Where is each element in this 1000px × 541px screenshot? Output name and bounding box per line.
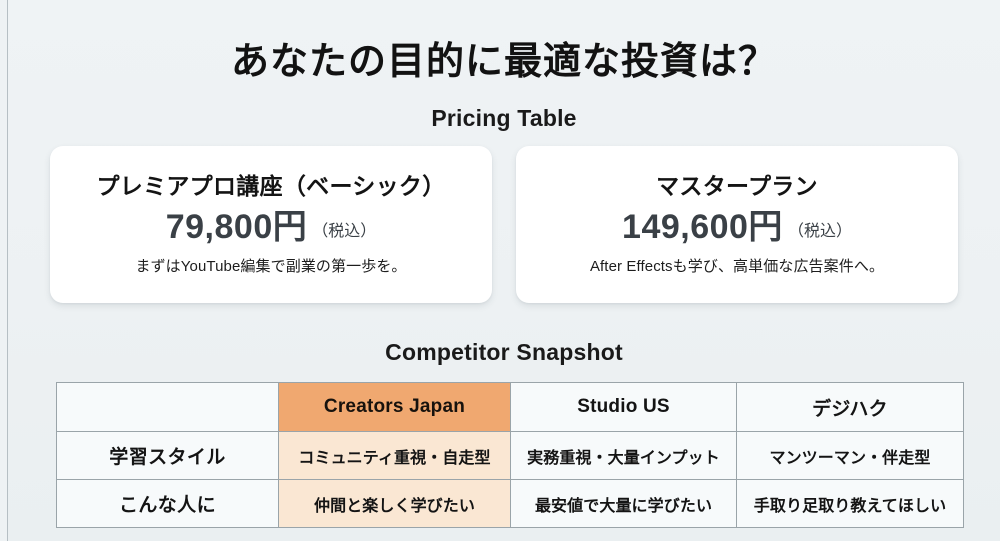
table-header-corner [57,383,279,432]
pricing-card-tax-note: （税込） [788,217,852,244]
table-header-row: Creators Japan Studio US デジハク [57,383,964,432]
table-row-label: 学習スタイル [57,432,279,480]
table-cell-dejihaku: マンツーマン・伴走型 [737,432,964,480]
table-header-dejihaku: デジハク [737,383,964,432]
pricing-card-price: 79,800円 [166,210,308,244]
pricing-card-group: プレミアプロ講座（ベーシック） 79,800円 （税込） まずはYouTube編… [50,146,958,303]
competitor-snapshot-table: Creators Japan Studio US デジハク 学習スタイル コミュ… [56,382,964,528]
slide-canvas: あなたの目的に最適な投資は？ Pricing Table プレミアプロ講座（ベー… [8,0,1000,541]
pricing-card-price-row: 149,600円 （税込） [622,210,852,244]
pricing-card-title: マスタープラン [656,167,818,201]
table-header-creators-japan: Creators Japan [279,383,511,432]
table-row: こんな人に 仲間と楽しく学びたい 最安値で大量に学びたい 手取り足取り教えてほし… [57,480,964,528]
table-cell-creators-japan: コミュニティ重視・自走型 [279,432,511,480]
table-row-label: こんな人に [57,480,279,528]
competitor-table-wrapper: Creators Japan Studio US デジハク 学習スタイル コミュ… [56,382,963,528]
pricing-card-price: 149,600円 [622,210,783,244]
competitor-section-label: Competitor Snapshot [8,339,1000,366]
table-cell-dejihaku: 手取り足取り教えてほしい [737,480,964,528]
pricing-section-label: Pricing Table [8,105,1000,132]
page-title: あなたの目的に最適な投資は？ [8,30,1000,85]
table-header-studio-us: Studio US [511,383,737,432]
pricing-card-basic[interactable]: プレミアプロ講座（ベーシック） 79,800円 （税込） まずはYouTube編… [50,146,492,303]
pricing-card-title: プレミアプロ講座（ベーシック） [96,167,445,201]
table-cell-studio-us: 実務重視・大量インプット [511,432,737,480]
table-cell-studio-us: 最安値で大量に学びたい [511,480,737,528]
slide-left-edge-rule [7,0,8,541]
pricing-card-tax-note: （税込） [312,217,376,244]
pricing-card-master[interactable]: マスタープラン 149,600円 （税込） After Effectsも学び、高… [516,146,958,303]
table-cell-creators-japan: 仲間と楽しく学びたい [279,480,511,528]
pricing-card-price-row: 79,800円 （税込） [166,210,377,244]
pricing-card-description: After Effectsも学び、高単価な広告案件へ。 [590,255,884,276]
table-row: 学習スタイル コミュニティ重視・自走型 実務重視・大量インプット マンツーマン・… [57,432,964,480]
pricing-card-description: まずはYouTube編集で副業の第一歩を。 [135,255,406,276]
